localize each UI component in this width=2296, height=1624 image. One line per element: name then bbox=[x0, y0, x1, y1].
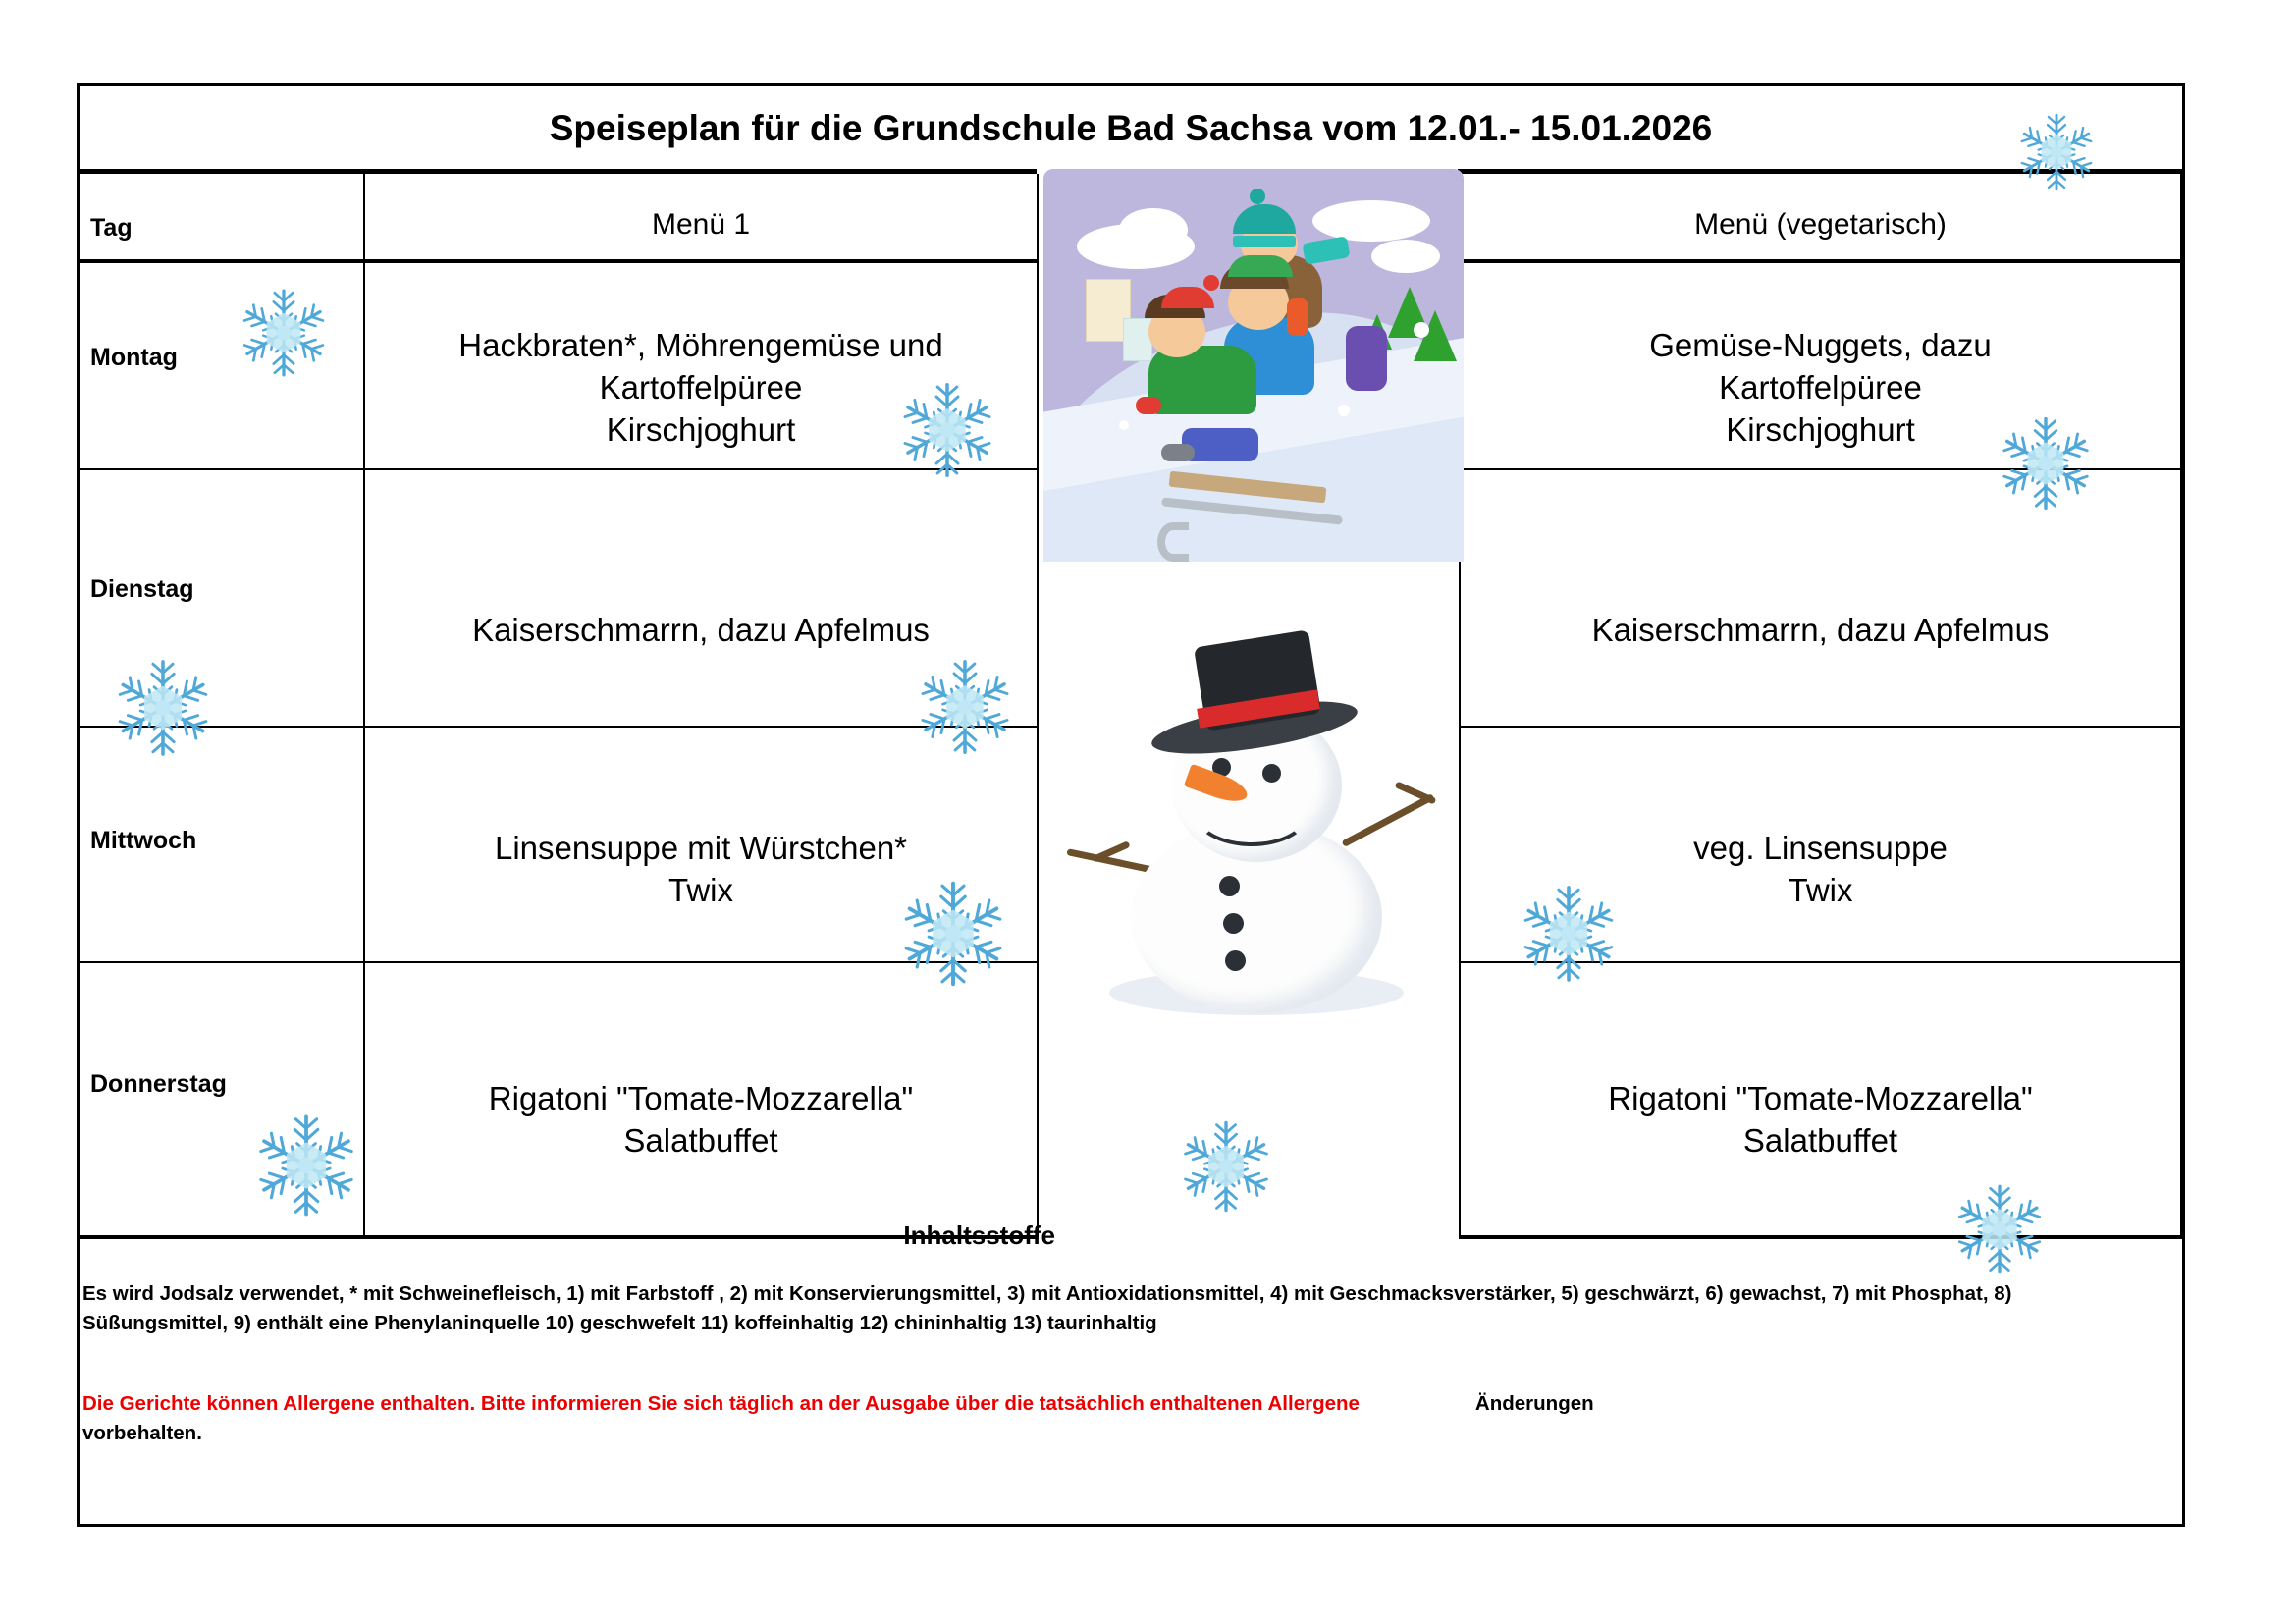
grid-hline-dienstag-right bbox=[1459, 726, 2182, 728]
header-day-label: Tag bbox=[90, 214, 133, 242]
menuveg-text-montag: Gemüse-Nuggets, dazu Kartoffelpüree Kirs… bbox=[1649, 327, 1992, 448]
snowman-image bbox=[1070, 624, 1443, 1037]
menu1-text-montag: Hackbraten*, Möhrengemüse und Kartoffelp… bbox=[458, 327, 942, 448]
row-montag-menuveg: Gemüse-Nuggets, dazu Kartoffelpüree Kirs… bbox=[1461, 283, 2180, 452]
header-cell-menu1: Menü 1 bbox=[365, 208, 1037, 242]
footnotes-text: Es wird Jodsalz verwendet, * mit Schwein… bbox=[82, 1282, 2012, 1334]
page-title-text: Speiseplan für die Grundschule Bad Sachs… bbox=[550, 108, 1713, 149]
footnotes-block: Es wird Jodsalz verwendet, * mit Schwein… bbox=[82, 1279, 2124, 1338]
allergen-warning-text: Die Gerichte können Allergene enthalten.… bbox=[82, 1392, 1360, 1415]
allergen-block: Die Gerichte können Allergene enthalten.… bbox=[82, 1389, 2124, 1448]
day-label-montag: Montag bbox=[90, 344, 178, 371]
menu1-text-dienstag: Kaiserschmarrn, dazu Apfelmus bbox=[472, 612, 930, 648]
grid-hline-mittwoch-left bbox=[80, 961, 1037, 963]
day-label-dienstag: Dienstag bbox=[90, 575, 194, 603]
row-mittwoch-menuveg: veg. Linsensuppe Twix bbox=[1461, 785, 2180, 912]
grid-hline-dienstag-left bbox=[80, 726, 1037, 728]
grid-hline-mittwoch-right bbox=[1459, 961, 2182, 963]
menu1-text-donnerstag: Rigatoni "Tomate-Mozzarella" Salatbuffet bbox=[489, 1080, 913, 1159]
menu-page: Speiseplan für die Grundschule Bad Sachs… bbox=[0, 0, 2296, 1624]
grid-hline-montag-right bbox=[1459, 468, 2182, 470]
row-montag-menu1: Hackbraten*, Möhrengemüse und Kartoffelp… bbox=[365, 283, 1037, 452]
menu1-text-mittwoch: Linsensuppe mit Würstchen* Twix bbox=[495, 830, 907, 908]
sledding-children-image bbox=[1043, 169, 1464, 562]
header-menu1-label: Menü 1 bbox=[652, 208, 750, 241]
row-donnerstag-menuveg: Rigatoni "Tomate-Mozzarella" Salatbuffet bbox=[1461, 1036, 2180, 1163]
grid-vline-menu1-right bbox=[1037, 174, 1039, 1239]
row-mittwoch-menu1: Linsensuppe mit Würstchen* Twix bbox=[365, 785, 1037, 912]
day-label-mittwoch: Mittwoch bbox=[90, 827, 196, 854]
row-mittwoch-day: Mittwoch bbox=[90, 827, 196, 855]
row-montag-day: Montag bbox=[90, 344, 178, 372]
row-donnerstag-menu1: Rigatoni "Tomate-Mozzarella" Salatbuffet bbox=[365, 1036, 1037, 1163]
grid-hline-montag-left bbox=[80, 468, 1037, 470]
header-cell-day: Tag bbox=[90, 214, 133, 243]
header-cell-menu-veg: Menü (vegetarisch) bbox=[1461, 208, 2180, 242]
header-menuveg-label: Menü (vegetarisch) bbox=[1694, 208, 1947, 241]
row-donnerstag-day: Donnerstag bbox=[90, 1070, 227, 1099]
grid-hline-donnerstag-right bbox=[1459, 1235, 2182, 1239]
grid-vline-menuveg-right bbox=[2180, 174, 2182, 1239]
menuveg-text-donnerstag: Rigatoni "Tomate-Mozzarella" Salatbuffet bbox=[1608, 1080, 2032, 1159]
page-title: Speiseplan für die Grundschule Bad Sachs… bbox=[80, 86, 2182, 171]
row-dienstag-menuveg: Kaiserschmarrn, dazu Apfelmus bbox=[1461, 568, 2180, 652]
grid-hline-header-right bbox=[1459, 259, 2182, 263]
changes-label: Änderungen bbox=[1475, 1389, 1594, 1419]
row-dienstag-day: Dienstag bbox=[90, 575, 194, 604]
menuveg-text-mittwoch: veg. Linsensuppe Twix bbox=[1693, 830, 1948, 908]
title-rule-left bbox=[80, 169, 1037, 174]
day-label-donnerstag: Donnerstag bbox=[90, 1070, 227, 1098]
changes-rest-text: vorbehalten. bbox=[82, 1422, 202, 1444]
menuveg-text-dienstag: Kaiserschmarrn, dazu Apfelmus bbox=[1592, 612, 2050, 648]
title-rule-right bbox=[1458, 169, 2182, 174]
ingredients-heading: Inhaltsstoffe bbox=[604, 1220, 1055, 1251]
row-dienstag-menu1: Kaiserschmarrn, dazu Apfelmus bbox=[365, 568, 1037, 652]
grid-hline-header-left bbox=[80, 259, 1037, 263]
ingredients-heading-text: Inhaltsstoffe bbox=[903, 1220, 1055, 1250]
